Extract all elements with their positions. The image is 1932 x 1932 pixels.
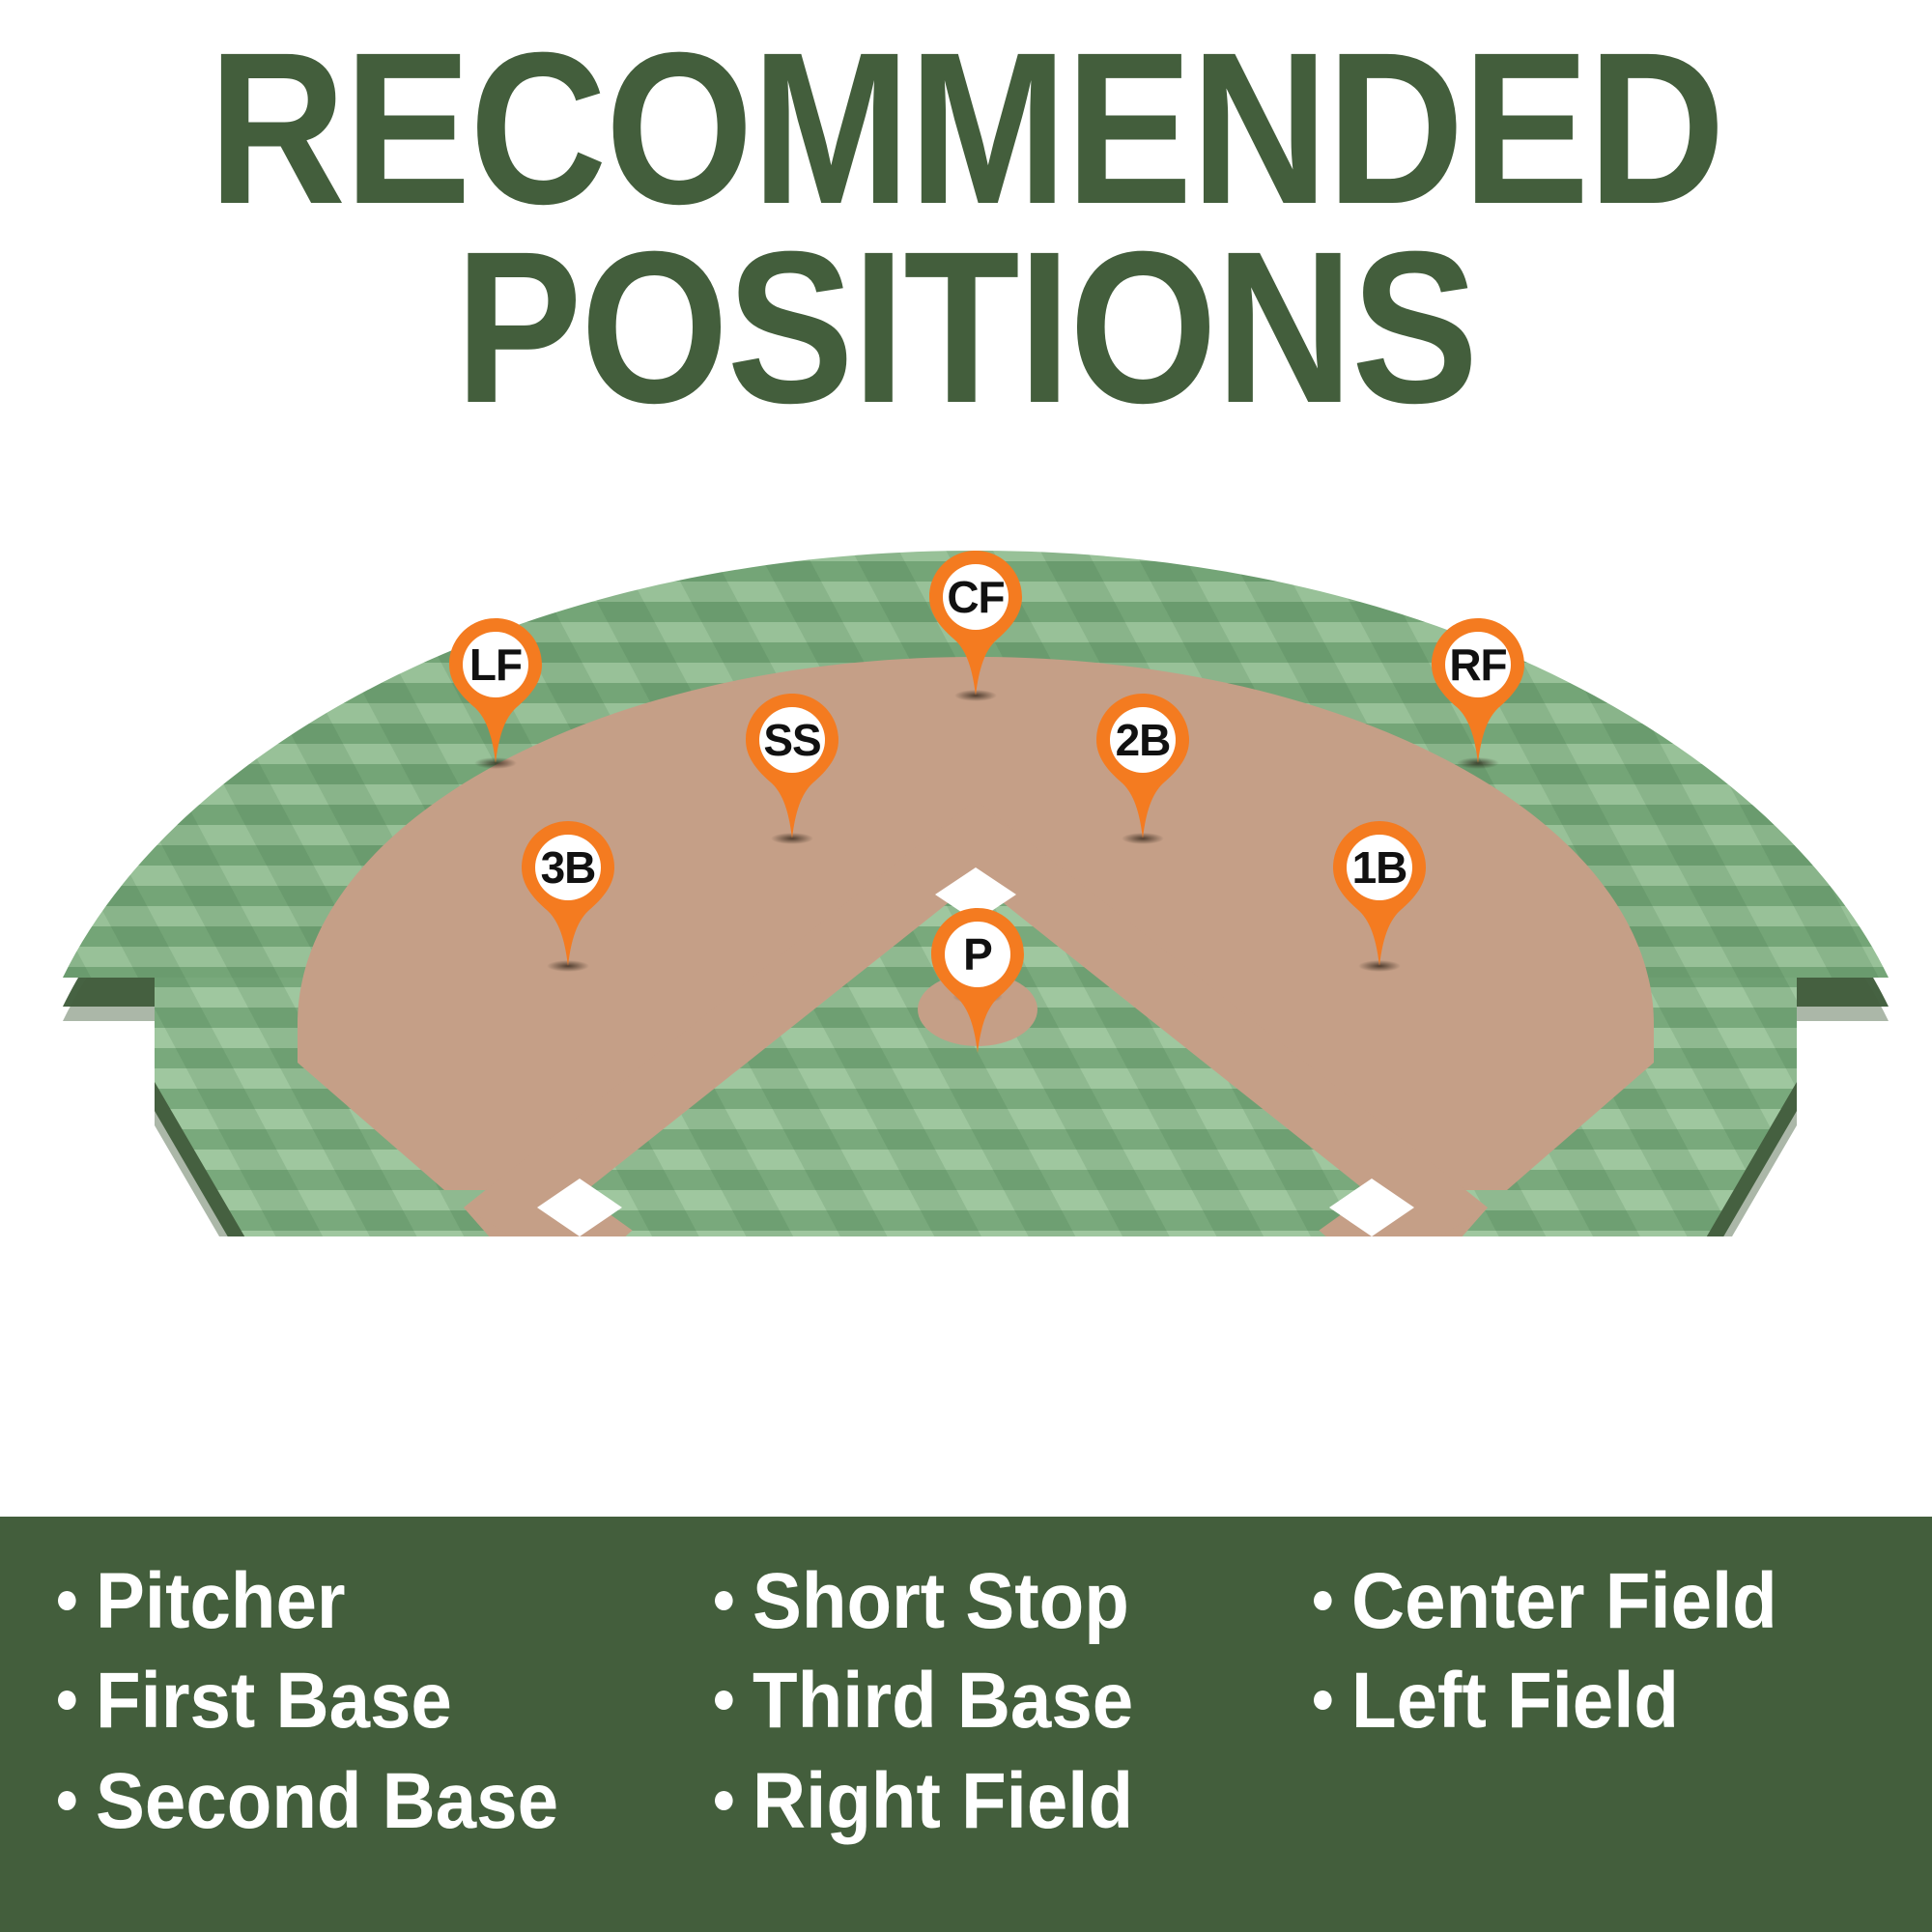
title-line-2: POSITIONS: [116, 228, 1816, 427]
legend-item-pitcher: Pitcher: [58, 1551, 668, 1651]
legend-item-third-base: Third Base: [715, 1651, 1272, 1750]
legend-label: Second Base: [96, 1751, 558, 1851]
legend-item-second-base: Second Base: [58, 1751, 668, 1851]
bullet-icon: [1314, 1690, 1332, 1710]
bullet-icon: [58, 1690, 76, 1710]
baseball-field: CFLFRFSS2B3B1BP: [0, 541, 1932, 1236]
bullet-icon: [715, 1690, 733, 1710]
legend-item-left-field: Left Field: [1314, 1651, 1889, 1750]
legend-item-center-field: Center Field: [1314, 1551, 1889, 1651]
map-pin-icon: [746, 694, 838, 838]
map-pin-icon: [449, 618, 542, 763]
legend-label: Center Field: [1351, 1551, 1777, 1651]
legend-label: Left Field: [1351, 1651, 1679, 1750]
legend-column-1: Pitcher First Base Second Base: [58, 1551, 715, 1932]
poster-canvas: RECOMMENDED POSITIONS: [0, 0, 1932, 1932]
map-pin-icon: [929, 551, 1022, 696]
map-pin-icon: [1432, 618, 1524, 763]
map-pin-icon: [1333, 821, 1426, 966]
legend-label: First Base: [96, 1651, 452, 1750]
map-pin-icon: [1096, 694, 1189, 838]
legend-item-first-base: First Base: [58, 1651, 668, 1750]
bullet-icon: [715, 1591, 733, 1610]
legend-column-2: Short Stop Third Base Right Field: [715, 1551, 1314, 1932]
title-line-1: RECOMMENDED: [116, 29, 1816, 228]
map-pin-icon: [522, 821, 614, 966]
positions-legend-panel: Pitcher First Base Second Base Short Sto…: [0, 1517, 1932, 1932]
map-pin-icon: [931, 908, 1024, 1053]
bullet-icon: [1314, 1591, 1332, 1610]
legend-label: Third Base: [753, 1651, 1133, 1750]
legend-label: Right Field: [753, 1751, 1133, 1851]
legend-label: Pitcher: [96, 1551, 346, 1651]
bullet-icon: [58, 1791, 76, 1810]
bullet-icon: [58, 1591, 76, 1610]
legend-column-3: Center Field Left Field: [1314, 1551, 1932, 1932]
legend-item-right-field: Right Field: [715, 1751, 1272, 1851]
legend-item-short-stop: Short Stop: [715, 1551, 1272, 1651]
legend-label: Short Stop: [753, 1551, 1129, 1651]
page-title: RECOMMENDED POSITIONS: [0, 29, 1932, 427]
bullet-icon: [715, 1791, 733, 1810]
